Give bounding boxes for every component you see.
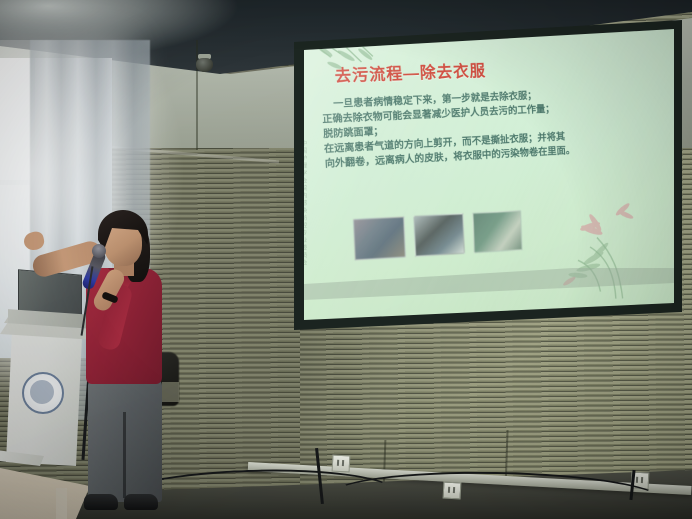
thumbnail-decontamination-3	[472, 210, 522, 253]
presenter-shoe-right	[124, 494, 158, 510]
slide-body: 一旦患者病情稳定下来，第一步就是去除衣服； 正确去除衣物可能会显著减少医护人员去…	[321, 86, 616, 172]
lecture-room-scene: 中国护理学会院内感染防控专业委员会 去污流程—除去衣服 一旦患者病情稳定下来，第…	[0, 0, 692, 519]
slide-surface: 中国护理学会院内感染防控专业委员会 去污流程—除去衣服 一旦患者病情稳定下来，第…	[278, 20, 646, 330]
presenter-leg-seam	[123, 412, 126, 498]
slide-thumbnail-row	[353, 210, 522, 260]
thumbnail-decontamination-1	[353, 216, 406, 260]
wall-outlet-left	[332, 455, 351, 473]
security-camera-icon	[196, 58, 213, 72]
presenter	[26, 206, 196, 519]
slide-title: 去污流程—除去衣服	[334, 57, 486, 87]
presenter-shoe-left	[84, 494, 118, 510]
floral-decoration-icon	[539, 189, 643, 303]
projection-screen: 中国护理学会院内感染防控专业委员会 去污流程—除去衣服 一旦患者病情稳定下来，第…	[278, 20, 682, 330]
thumbnail-decontamination-2	[413, 213, 464, 256]
presenter-pointing-hand	[22, 230, 45, 252]
